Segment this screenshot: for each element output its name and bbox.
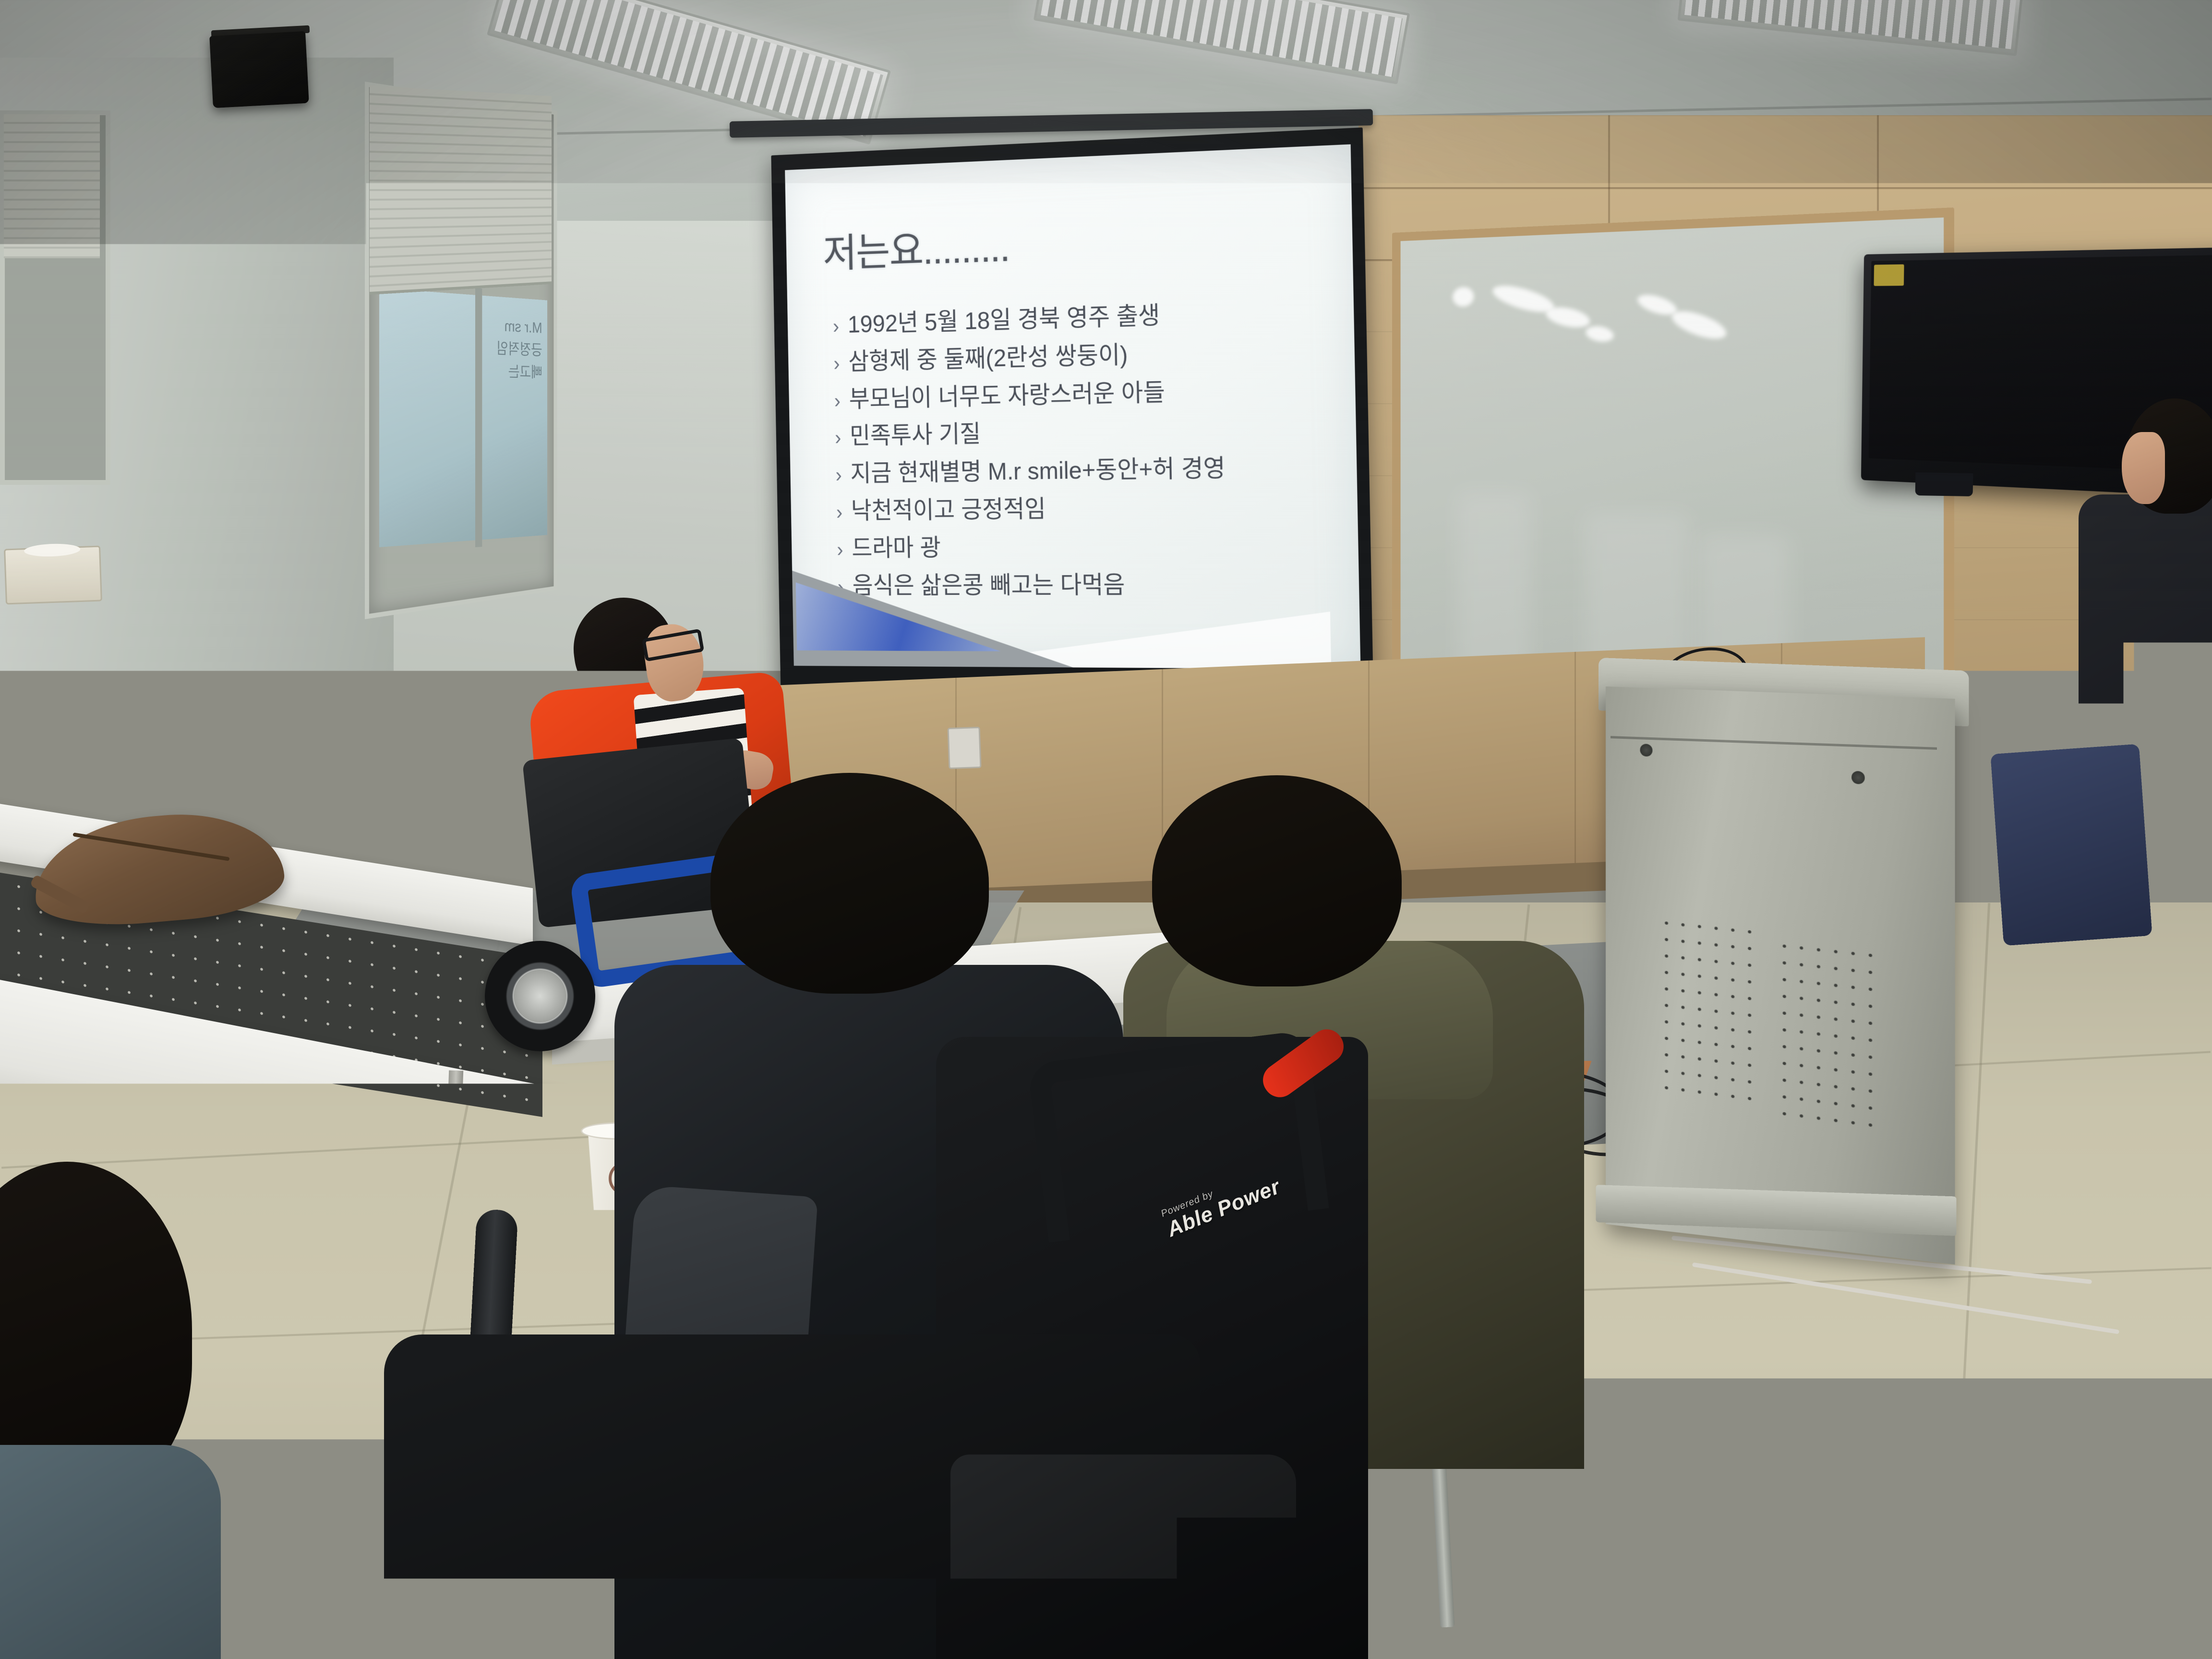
foreground-person-shoulder: [0, 1445, 221, 1659]
slide-bullet: 드라마 광: [837, 528, 1340, 565]
tissue-box: [4, 546, 102, 605]
wall-speaker: [209, 31, 309, 108]
slide-bullet: 음식은 삶은콩 빼고는 다먹음: [837, 567, 1340, 603]
slide-bullet: 민족투사 기질: [835, 411, 1338, 454]
presentation-slide: 저는요......... 1992년 5월 18일 경북 영주 출생 삼형제 중…: [785, 144, 1360, 669]
power-outlet[interactable]: [948, 727, 982, 769]
window-blind[interactable]: [4, 114, 100, 258]
standing-person-face: [2122, 432, 2165, 504]
audience-member-head: [710, 773, 989, 994]
classroom-photo: M.r sm 긍정적임 빼고는 저는요......... 1992년 5월 18…: [0, 0, 2212, 1659]
window-glass: M.r sm 긍정적임 빼고는: [379, 288, 547, 547]
audience-member-head: [1152, 775, 1402, 986]
wheelchair-wheel: [485, 941, 595, 1051]
window-mullion: [475, 288, 482, 547]
slide-reflection: M.r sm 긍정적임 빼고는: [379, 288, 547, 547]
window-blind[interactable]: [370, 85, 552, 295]
slide-bullet-list: 1992년 5월 18일 경북 영주 출생 삼형제 중 둘째(2란성 쌍둥이) …: [832, 293, 1340, 607]
slide-bullet: 낙천적이고 긍정적임: [836, 489, 1339, 529]
lectern: [1606, 686, 1955, 1264]
slide-bullet: 지금 현재별명 M.r smile+동안+허 경영: [835, 450, 1338, 491]
shoe: [2063, 1291, 2205, 1354]
slide-bullet: 부모님이 너무도 자랑스러운 아들: [834, 372, 1336, 417]
projection-screen: 저는요......... 1992년 5월 18일 경북 영주 출생 삼형제 중…: [771, 127, 1373, 696]
slide-title: 저는요.........: [822, 215, 1010, 279]
tv-sticker: [1874, 264, 1904, 286]
tv-wall-mount: [1915, 472, 1973, 496]
